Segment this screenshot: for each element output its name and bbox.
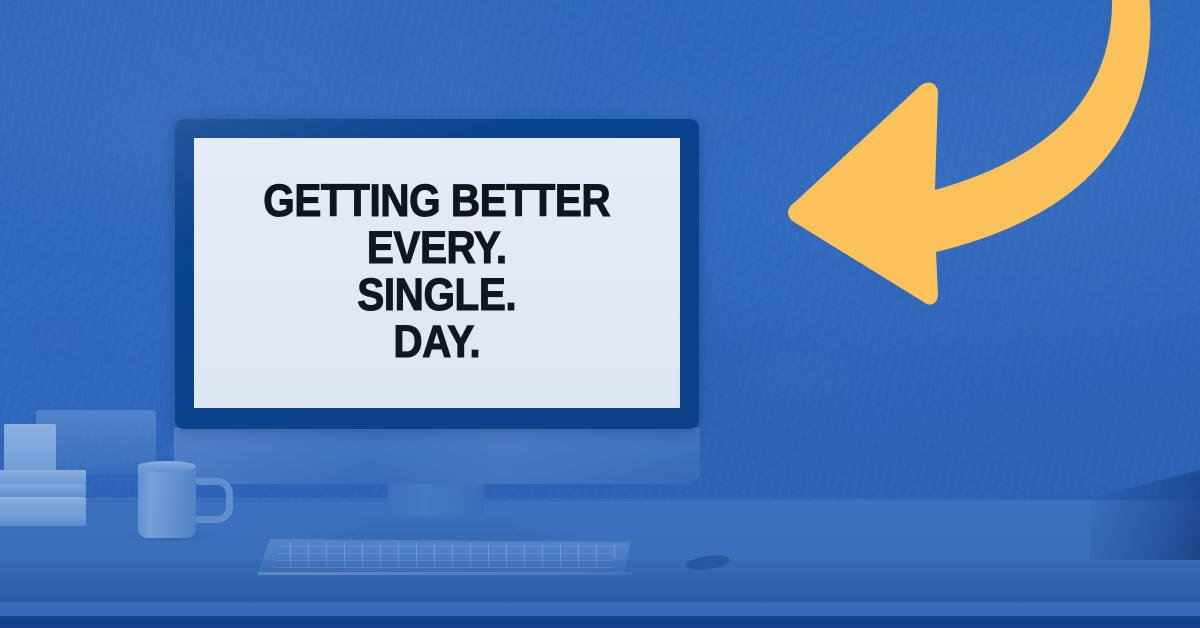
book-layer	[0, 497, 86, 511]
monitor-stand-foot	[352, 516, 524, 542]
banner-canvas: GETTING BETTER EVERY. SINGLE. DAY.	[0, 0, 1200, 628]
arrow-shape	[788, 0, 1150, 305]
book-layer	[0, 511, 86, 526]
headline-line-2: EVERY.	[264, 224, 611, 271]
screen-headline: GETTING BETTER EVERY. SINGLE. DAY.	[264, 177, 611, 369]
desk-front-shadow	[0, 560, 1200, 602]
curved-down-left-arrow-icon	[770, 0, 1200, 324]
computer-monitor: GETTING BETTER EVERY. SINGLE. DAY.	[175, 119, 699, 429]
upright-book	[4, 424, 56, 474]
headline-line-1: GETTING BETTER	[264, 177, 611, 224]
book-layer	[0, 484, 86, 497]
monitor-lower-body-sheen	[174, 428, 700, 484]
desk-front-edge	[0, 616, 1200, 628]
coffee-mug	[138, 463, 196, 538]
headline-line-3: SINGLE.	[264, 271, 611, 318]
book-stack	[0, 470, 86, 526]
mug-handle	[191, 478, 233, 523]
mug-rim	[138, 461, 196, 472]
headline-line-4: DAY.	[264, 318, 611, 365]
book-layer	[0, 470, 86, 484]
monitor-screen: GETTING BETTER EVERY. SINGLE. DAY.	[194, 138, 680, 408]
